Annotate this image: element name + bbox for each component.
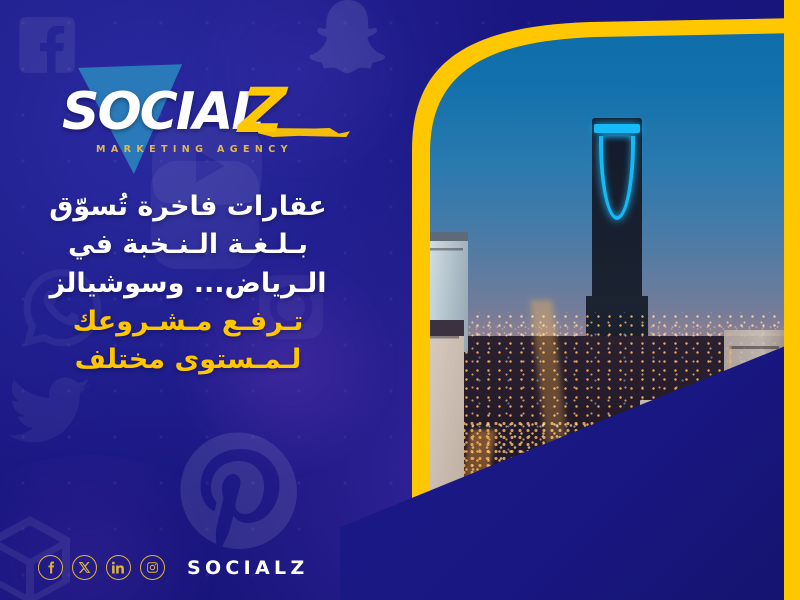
instagram-icon[interactable] [140, 555, 165, 580]
logo-wordmark: SOCIAL [62, 82, 263, 142]
hero-photo-panel [340, 0, 800, 600]
x-twitter-icon[interactable] [72, 555, 97, 580]
headline-line-5: لـمـستوى مختلف [38, 341, 338, 379]
headline-line-2: بـلـغـة الـنـخبة في [38, 226, 338, 264]
footer-brand-name: SOCIALZ [187, 557, 309, 579]
logo-tagline: MARKETING AGENCY [96, 144, 293, 155]
brand-logo[interactable]: SOCIAL Z MARKETING AGENCY [62, 68, 330, 164]
footer-bar: SOCIALZ [38, 555, 309, 580]
right-accent-bar [784, 0, 800, 600]
headline-block: عقارات فاخرة تُسوّق بـلـغـة الـنـخبة في … [38, 188, 338, 380]
headline-line-4: تـرفـع مـشـروعك [38, 303, 338, 341]
tower-crown-light [594, 124, 640, 133]
social-media-poster: SOCIAL Z MARKETING AGENCY عقارات فاخرة ت… [0, 0, 800, 600]
headline-line-1: عقارات فاخرة تُسوّق [38, 188, 338, 226]
linkedin-icon[interactable] [106, 555, 131, 580]
logo-brush-stroke [258, 128, 350, 137]
twitter-bird-watermark-icon [8, 368, 94, 454]
pinterest-watermark-icon [178, 430, 298, 550]
facebook-icon[interactable] [38, 555, 63, 580]
headline-line-3: الـرياض... وسوشيالز [38, 265, 338, 303]
